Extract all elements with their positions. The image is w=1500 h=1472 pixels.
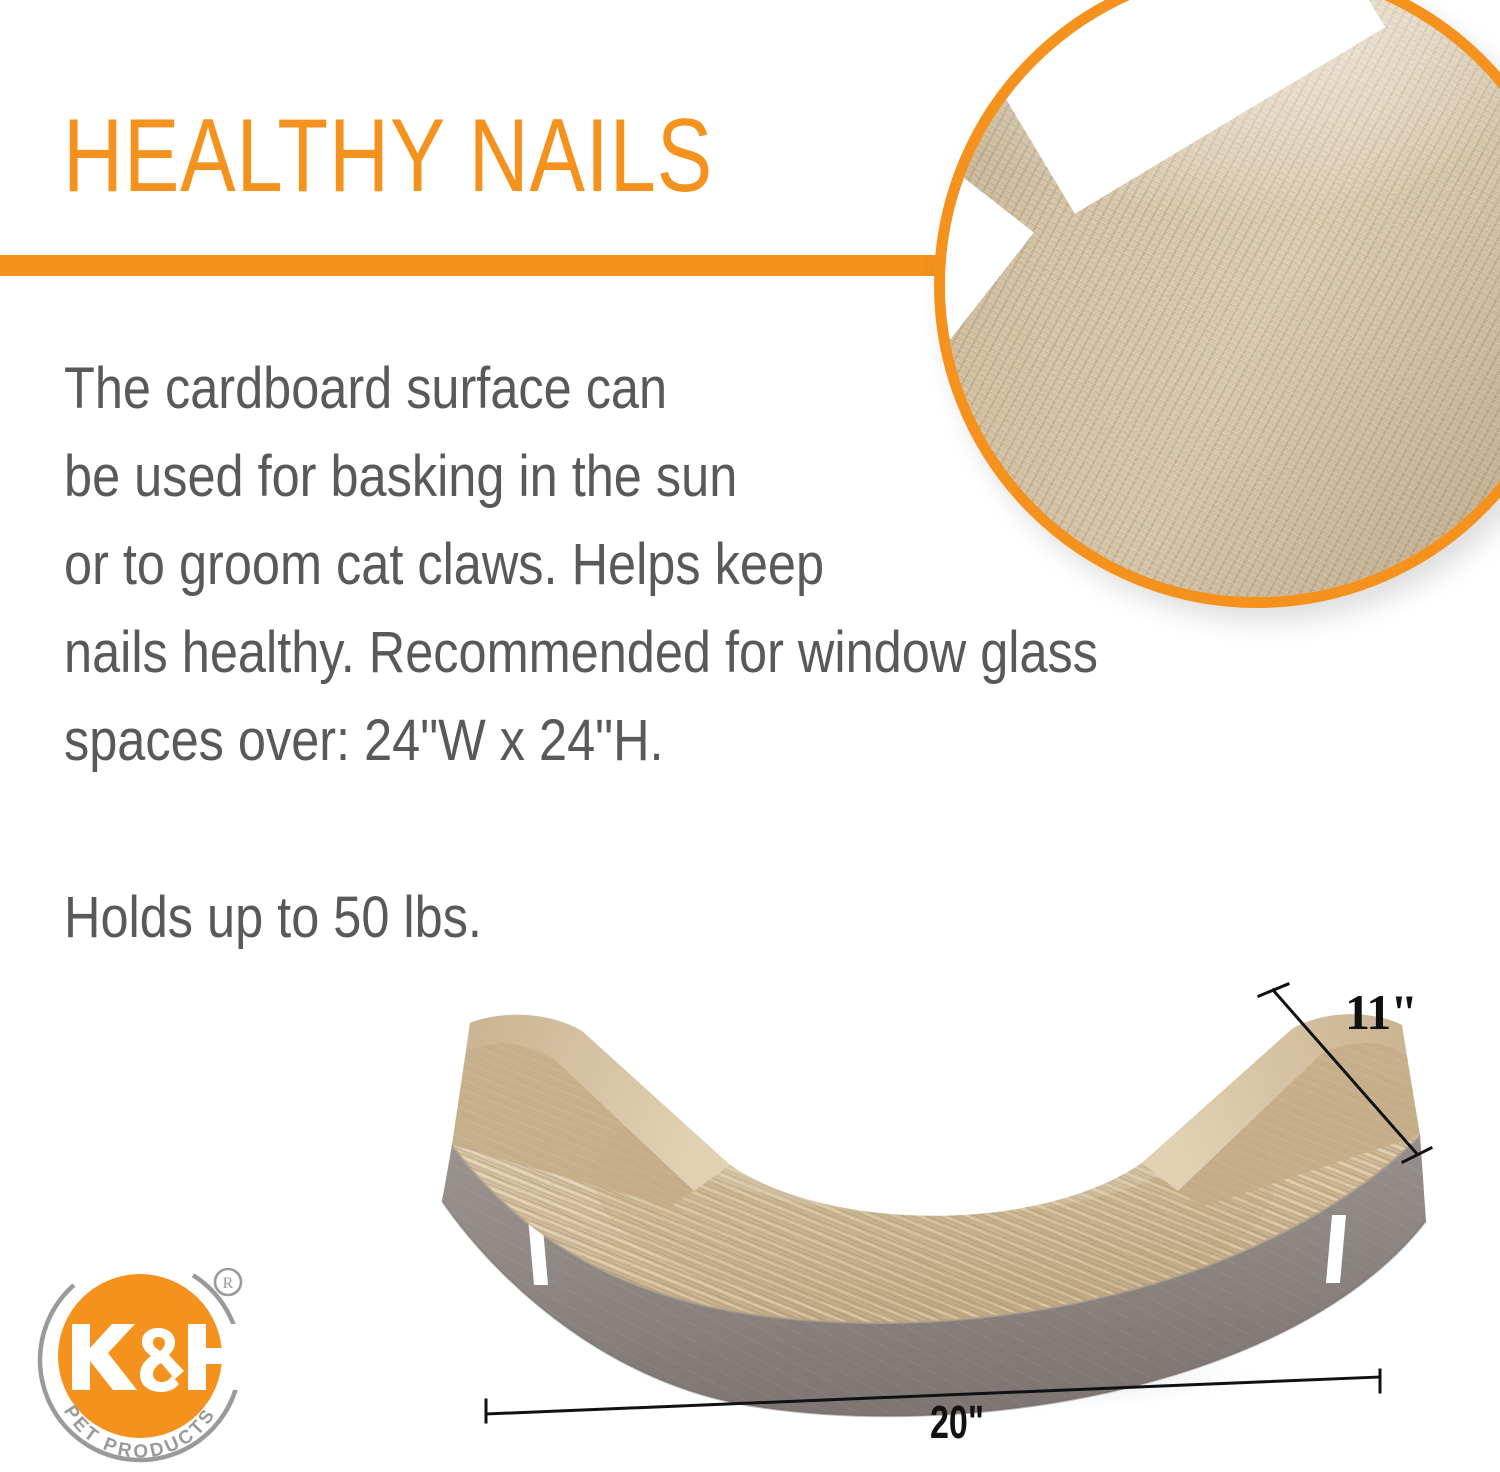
dimension-depth-cap-top <box>1259 984 1288 996</box>
weight-capacity-line: Holds up to 50 lbs. <box>64 874 482 962</box>
page-title: HEALTHY NAILS <box>63 104 713 208</box>
description-line-1: The cardboard surface can <box>64 345 1299 433</box>
description-line-4: nails healthy. Recommended for window gl… <box>64 609 1299 697</box>
kh-pet-products-logo: R PET PRODUCTS <box>32 1244 264 1472</box>
dimension-width-label: 20" <box>930 1395 984 1449</box>
title-underline-rule <box>0 255 948 276</box>
description-line-2: be used for basking in the sun <box>64 433 1299 521</box>
description-line-5: spaces over: 24"W x 24"H. <box>64 697 1299 785</box>
svg-text:R: R <box>223 1275 234 1292</box>
description-paragraph: The cardboard surface can be used for ba… <box>64 345 1484 785</box>
dimension-depth-cap-bottom <box>1403 1148 1431 1162</box>
registered-trademark-icon: R <box>215 1269 241 1295</box>
description-line-3: or to groom cat claws. Helps keep <box>64 521 1299 609</box>
dimension-depth-label: 11" <box>1345 983 1417 1041</box>
weight-capacity-text: Holds up to 50 lbs. <box>64 874 544 962</box>
